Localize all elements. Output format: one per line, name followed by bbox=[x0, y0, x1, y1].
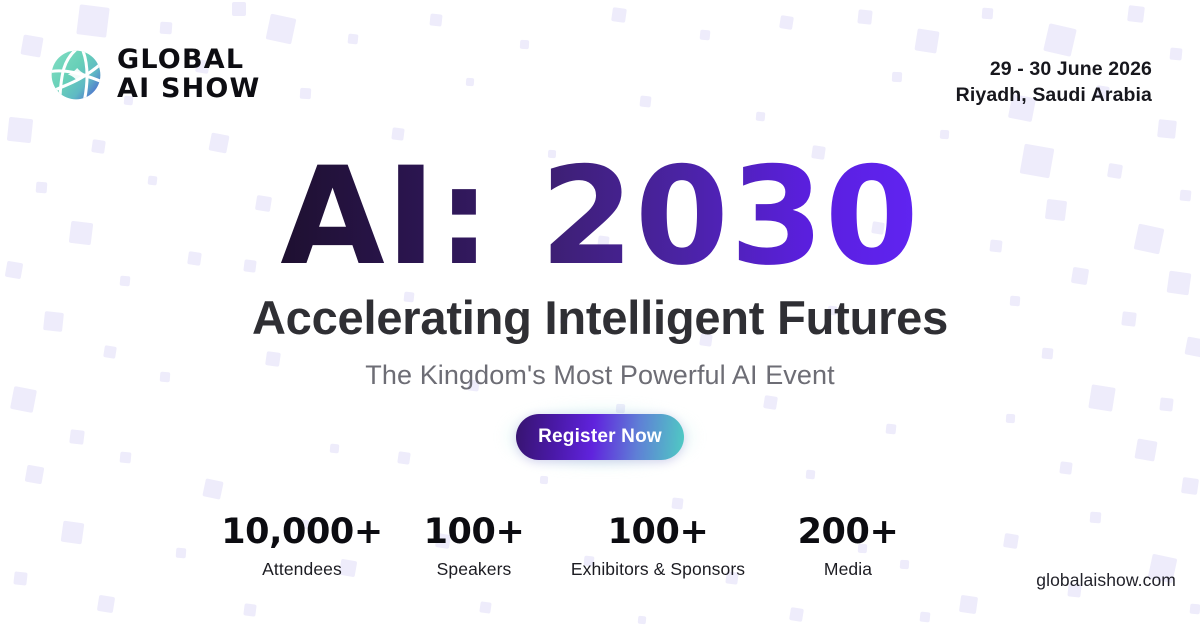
bg-square bbox=[265, 351, 281, 367]
hero-subhead: Accelerating Intelligent Futures bbox=[252, 292, 948, 345]
bg-square bbox=[886, 424, 897, 435]
stat-value: 100+ bbox=[558, 512, 758, 553]
stat-item: 10,000+ Attendees bbox=[214, 512, 390, 580]
bg-square bbox=[1042, 348, 1054, 360]
stat-label: Media bbox=[758, 559, 938, 580]
bg-square bbox=[202, 478, 223, 499]
stat-label: Speakers bbox=[390, 559, 558, 580]
bg-square bbox=[959, 595, 978, 614]
bg-square bbox=[806, 470, 816, 480]
bg-square bbox=[69, 429, 85, 445]
globe-sphere-logo-icon bbox=[47, 46, 105, 104]
bg-square bbox=[671, 497, 683, 509]
bg-square bbox=[187, 251, 202, 266]
wordmark-line-global: GLOBAL bbox=[117, 46, 261, 75]
stat-value: 200+ bbox=[758, 512, 938, 553]
hero-tagline: The Kingdom's Most Powerful AI Event bbox=[365, 360, 834, 391]
bg-square bbox=[1121, 311, 1137, 327]
stat-value: 100+ bbox=[390, 512, 558, 553]
bg-square bbox=[120, 276, 131, 287]
event-banner: GLOBAL AI SHOW 29 - 30 June 2026 Riyadh,… bbox=[0, 0, 1200, 630]
bg-square bbox=[1010, 296, 1021, 307]
event-location: Riyadh, Saudi Arabia bbox=[956, 82, 1152, 108]
bg-square bbox=[1180, 190, 1192, 202]
cta-container: Register Now bbox=[516, 414, 684, 460]
bg-square bbox=[1071, 267, 1089, 285]
bg-square bbox=[789, 607, 804, 622]
bg-square bbox=[397, 451, 411, 465]
bg-square bbox=[1045, 199, 1067, 221]
bg-square bbox=[148, 176, 158, 186]
bg-square bbox=[1134, 224, 1165, 255]
banner-header: GLOBAL AI SHOW 29 - 30 June 2026 Riyadh,… bbox=[0, 0, 1200, 150]
bg-square bbox=[97, 595, 115, 613]
bg-square bbox=[25, 465, 45, 485]
bg-square bbox=[160, 372, 171, 383]
bg-square bbox=[989, 239, 1002, 252]
stat-item: 100+ Exhibitors & Sponsors bbox=[558, 512, 758, 580]
wordmark-line-ai-show: AI SHOW bbox=[117, 75, 261, 104]
page-title: AI: 2030 bbox=[280, 148, 919, 286]
bg-square bbox=[1006, 414, 1015, 423]
stat-value: 10,000+ bbox=[214, 512, 390, 553]
bg-square bbox=[10, 386, 37, 413]
website-url[interactable]: globalaishow.com bbox=[1036, 570, 1176, 591]
bg-square bbox=[1059, 461, 1072, 474]
bg-square bbox=[69, 221, 94, 246]
bg-square bbox=[120, 452, 132, 464]
bg-square bbox=[43, 311, 64, 332]
bg-square bbox=[920, 612, 931, 623]
bg-square bbox=[1134, 438, 1157, 461]
brand-logo[interactable]: GLOBAL AI SHOW bbox=[47, 46, 261, 104]
brand-wordmark: GLOBAL AI SHOW bbox=[117, 46, 261, 103]
stat-label: Exhibitors & Sponsors bbox=[558, 559, 758, 580]
bg-square bbox=[1107, 163, 1123, 179]
register-now-button[interactable]: Register Now bbox=[516, 414, 684, 460]
stat-label: Attendees bbox=[214, 559, 390, 580]
bg-square bbox=[1184, 336, 1200, 357]
bg-square bbox=[1088, 384, 1115, 411]
stat-item: 200+ Media bbox=[758, 512, 938, 580]
event-details: 29 - 30 June 2026 Riyadh, Saudi Arabia bbox=[956, 56, 1152, 108]
event-dates: 29 - 30 June 2026 bbox=[956, 56, 1152, 82]
bg-square bbox=[330, 444, 340, 454]
bg-square bbox=[616, 404, 626, 414]
bg-square bbox=[5, 261, 24, 280]
bg-square bbox=[243, 259, 256, 272]
bg-square bbox=[103, 345, 117, 359]
bg-square bbox=[1167, 271, 1192, 296]
bg-square bbox=[1181, 477, 1199, 495]
bg-square bbox=[243, 603, 256, 616]
bg-square bbox=[479, 601, 491, 613]
stats-row: 10,000+ Attendees 100+ Speakers 100+ Exh… bbox=[0, 512, 1200, 580]
bg-square bbox=[638, 616, 647, 625]
bg-square bbox=[540, 476, 548, 484]
bg-square bbox=[36, 182, 48, 194]
bg-square bbox=[1190, 604, 1200, 615]
stat-item: 100+ Speakers bbox=[390, 512, 558, 580]
bg-square bbox=[1159, 397, 1173, 411]
bg-square bbox=[763, 395, 778, 410]
bg-square bbox=[255, 195, 272, 212]
